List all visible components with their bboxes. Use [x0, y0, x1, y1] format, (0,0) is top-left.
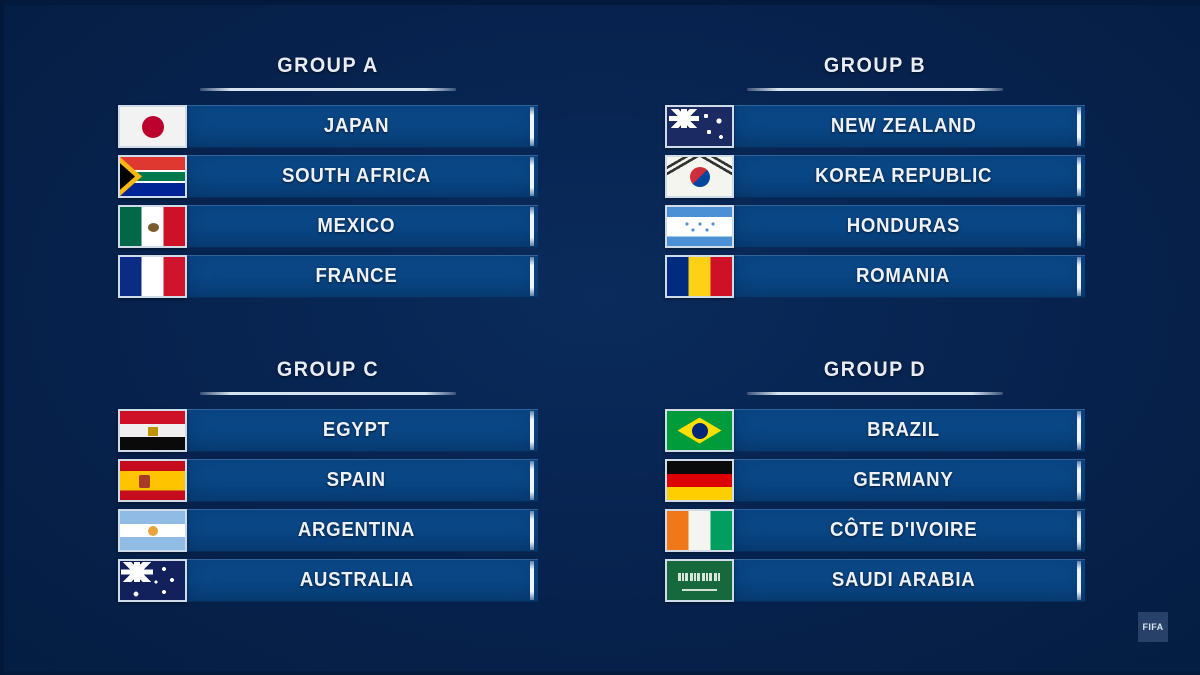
team-row[interactable]: GERMANY [665, 459, 1085, 502]
team-bar[interactable]: AUSTRALIA [186, 559, 538, 602]
team-name: SOUTH AFRICA [282, 165, 431, 188]
flag-romania-icon [665, 255, 734, 298]
row-end-accent [530, 411, 534, 450]
fifa-logo: FIFA [1138, 612, 1168, 642]
team-name: EGYPT [323, 419, 390, 442]
flag-australia-icon [118, 559, 187, 602]
team-row[interactable]: MEXICO [118, 205, 538, 248]
row-end-accent [530, 107, 534, 146]
team-name: ARGENTINA [298, 519, 415, 542]
team-name: SAUDI ARABIA [832, 569, 976, 592]
group-title-a: GROUP A [131, 52, 526, 80]
team-bar[interactable]: JAPAN [186, 105, 538, 148]
team-name: SPAIN [327, 469, 386, 492]
team-list-d: BRAZIL GERMANY CÔTE D'IVOIRE [665, 409, 1085, 602]
team-bar[interactable]: CÔTE D'IVOIRE [733, 509, 1085, 552]
group-title-b: GROUP B [678, 52, 1073, 80]
team-name: HONDURAS [847, 215, 960, 238]
letterbox-left [0, 0, 4, 675]
team-bar[interactable]: KOREA REPUBLIC [733, 155, 1085, 198]
team-name: CÔTE D'IVOIRE [830, 519, 977, 542]
letterbox-bottom [0, 671, 1200, 675]
team-list-b: NEW ZEALAND KOREA REPUBLIC HONDURAS [665, 105, 1085, 298]
team-name: FRANCE [315, 265, 397, 288]
team-row[interactable]: EGYPT [118, 409, 538, 452]
flag-mexico-icon [118, 205, 187, 248]
group-title-d: GROUP D [678, 356, 1073, 384]
team-bar[interactable]: SAUDI ARABIA [733, 559, 1085, 602]
group-title-c: GROUP C [131, 356, 526, 384]
team-name: GERMANY [853, 469, 953, 492]
flag-south-africa-icon [118, 155, 187, 198]
team-bar[interactable]: FRANCE [186, 255, 538, 298]
row-end-accent [1077, 207, 1081, 246]
team-row[interactable]: SAUDI ARABIA [665, 559, 1085, 602]
group-underline-d [747, 392, 1003, 395]
team-bar[interactable]: BRAZIL [733, 409, 1085, 452]
team-list-a: JAPAN SOUTH AFRICA MEXICO [118, 105, 538, 298]
row-end-accent [1077, 157, 1081, 196]
team-row[interactable]: JAPAN [118, 105, 538, 148]
team-row[interactable]: HONDURAS [665, 205, 1085, 248]
team-bar[interactable]: SPAIN [186, 459, 538, 502]
row-end-accent [1077, 257, 1081, 296]
team-name: ROMANIA [856, 265, 950, 288]
team-bar[interactable]: EGYPT [186, 409, 538, 452]
row-end-accent [1077, 511, 1081, 550]
team-name: KOREA REPUBLIC [815, 165, 992, 188]
team-row[interactable]: SPAIN [118, 459, 538, 502]
team-name: BRAZIL [867, 419, 940, 442]
fifa-logo-label: FIFA [1142, 622, 1163, 632]
row-end-accent [530, 207, 534, 246]
team-row[interactable]: KOREA REPUBLIC [665, 155, 1085, 198]
flag-spain-icon [118, 459, 187, 502]
flag-saudi-arabia-icon [665, 559, 734, 602]
flag-korea-republic-icon [665, 155, 734, 198]
group-header-a: GROUP A [118, 52, 538, 91]
row-end-accent [530, 561, 534, 600]
flag-brazil-icon [665, 409, 734, 452]
team-bar[interactable]: ROMANIA [733, 255, 1085, 298]
team-name: NEW ZEALAND [831, 115, 977, 138]
flag-japan-icon [118, 105, 187, 148]
row-end-accent [1077, 561, 1081, 600]
row-end-accent [530, 157, 534, 196]
group-underline-c [200, 392, 456, 395]
row-end-accent [530, 257, 534, 296]
team-row[interactable]: ARGENTINA [118, 509, 538, 552]
flag-argentina-icon [118, 509, 187, 552]
row-end-accent [1077, 411, 1081, 450]
team-row[interactable]: CÔTE D'IVOIRE [665, 509, 1085, 552]
flag-cote-divoire-icon [665, 509, 734, 552]
group-block-b: GROUP B NEW ZEALAND KOREA REPUBLIC [665, 52, 1085, 298]
group-block-c: GROUP C EGYPT SPAIN ARGENTIN [118, 356, 538, 602]
group-block-d: GROUP D BRAZIL GERMANY CÔTE [665, 356, 1085, 602]
flag-honduras-icon [665, 205, 734, 248]
team-row[interactable]: BRAZIL [665, 409, 1085, 452]
team-bar[interactable]: NEW ZEALAND [733, 105, 1085, 148]
team-bar[interactable]: SOUTH AFRICA [186, 155, 538, 198]
team-row[interactable]: NEW ZEALAND [665, 105, 1085, 148]
row-end-accent [1077, 107, 1081, 146]
group-header-c: GROUP C [118, 356, 538, 395]
team-bar[interactable]: GERMANY [733, 459, 1085, 502]
letterbox-top [0, 0, 1200, 5]
flag-france-icon [118, 255, 187, 298]
team-bar[interactable]: ARGENTINA [186, 509, 538, 552]
group-block-a: GROUP A JAPAN SOUTH AFRICA M [118, 52, 538, 298]
team-row[interactable]: SOUTH AFRICA [118, 155, 538, 198]
row-end-accent [530, 461, 534, 500]
team-bar[interactable]: MEXICO [186, 205, 538, 248]
team-row[interactable]: AUSTRALIA [118, 559, 538, 602]
group-header-d: GROUP D [665, 356, 1085, 395]
team-row[interactable]: FRANCE [118, 255, 538, 298]
group-underline-a [200, 88, 456, 91]
team-name: JAPAN [324, 115, 389, 138]
team-name: MEXICO [317, 215, 395, 238]
team-bar[interactable]: HONDURAS [733, 205, 1085, 248]
row-end-accent [1077, 461, 1081, 500]
row-end-accent [530, 511, 534, 550]
team-name: AUSTRALIA [299, 569, 413, 592]
flag-egypt-icon [118, 409, 187, 452]
team-row[interactable]: ROMANIA [665, 255, 1085, 298]
draw-stage: GROUP A JAPAN SOUTH AFRICA M [0, 0, 1200, 675]
flag-new-zealand-icon [665, 105, 734, 148]
flag-germany-icon [665, 459, 734, 502]
team-list-c: EGYPT SPAIN ARGENTINA [118, 409, 538, 602]
group-header-b: GROUP B [665, 52, 1085, 91]
group-underline-b [747, 88, 1003, 91]
